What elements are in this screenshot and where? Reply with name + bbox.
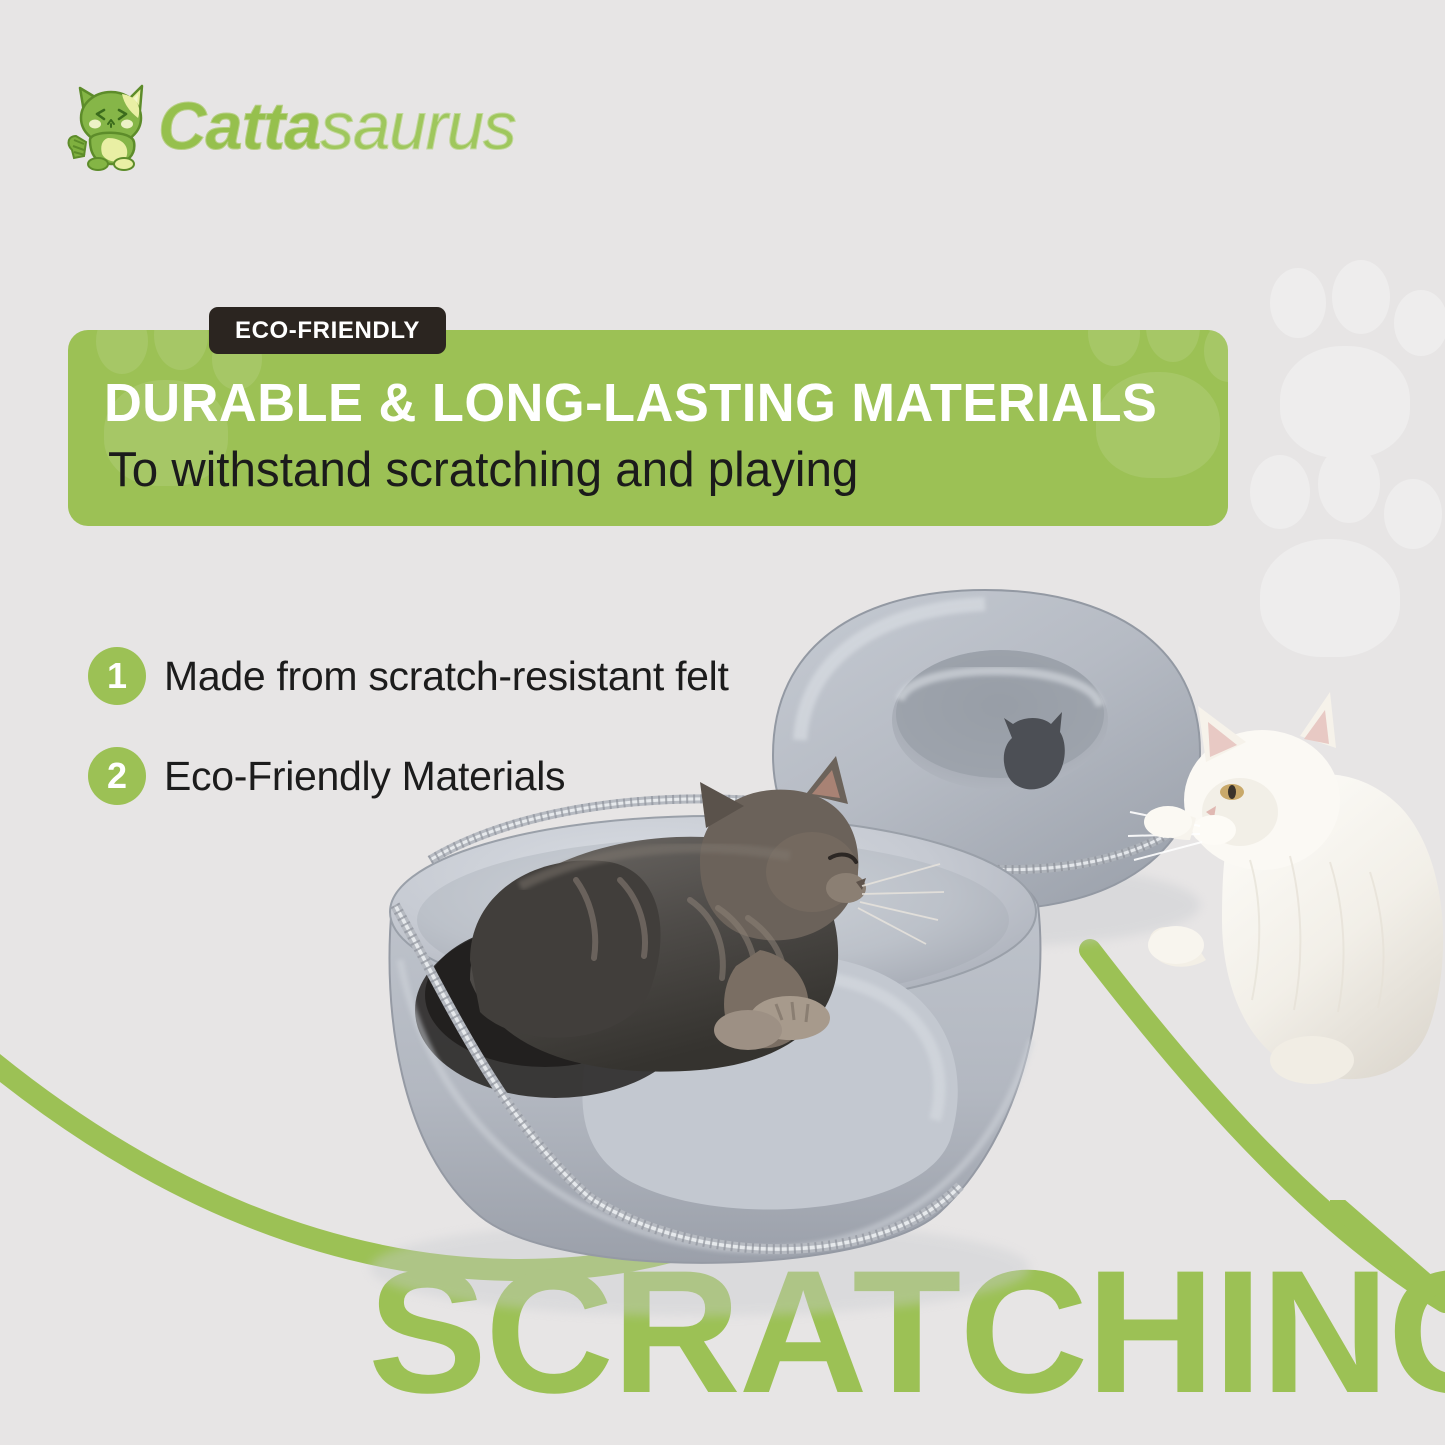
feature-list-item-1: 1 Made from scratch-resistant felt [88, 647, 729, 705]
donut-tunnel-bed [770, 590, 1200, 947]
paw-watermark-right-upper [1258, 268, 1445, 463]
banner-headline: DURABLE & LONG-LASTING MATERIALS [104, 372, 1157, 434]
white-fluffy-cat [1128, 692, 1443, 1084]
infographic-canvas: Cattasaurus DURABLE & LONG-LASTING MATER… [0, 0, 1445, 1445]
brand-name-bold: Catta [158, 89, 321, 164]
zipper-bed-upper [430, 799, 830, 860]
feature-list-item-2: 2 Eco-Friendly Materials [88, 747, 565, 805]
brand-logo[interactable]: Cattasaurus [64, 76, 516, 176]
feature-text-2: Eco-Friendly Materials [164, 753, 565, 800]
bottom-keyword: SCRATCHING [368, 1232, 1445, 1433]
green-cat-mascot-icon [64, 78, 156, 174]
paw-watermark-right-lower [1240, 455, 1445, 660]
feature-text-1: Made from scratch-resistant felt [164, 653, 729, 700]
brand-wordmark: Cattasaurus [158, 93, 516, 160]
zipper-bed [395, 905, 960, 1249]
headline-banner: DURABLE & LONG-LASTING MATERIALS To with… [68, 330, 1228, 526]
cat-front-paws [714, 996, 830, 1050]
banner-subheadline: To withstand scratching and playing [108, 442, 858, 498]
eco-friendly-badge: ECO-FRIENDLY [209, 307, 446, 354]
eco-friendly-badge-label: ECO-FRIENDLY [235, 317, 420, 345]
product-photo-group [0, 0, 1445, 1445]
cat-silhouette-cutout [1004, 712, 1065, 789]
brand-name-light: saurus [321, 89, 516, 164]
zipper-donut [790, 800, 1196, 870]
feature-number-2: 2 [88, 747, 146, 805]
feature-number-1: 1 [88, 647, 146, 705]
